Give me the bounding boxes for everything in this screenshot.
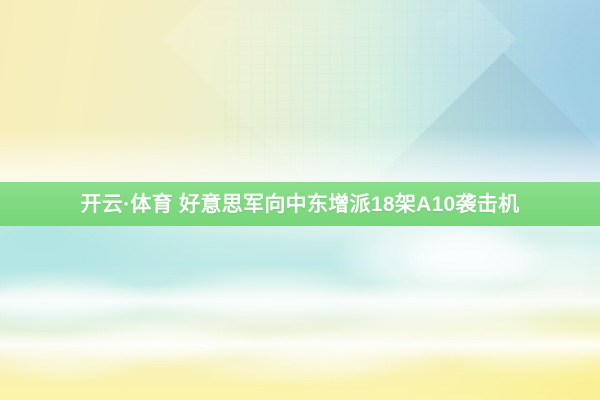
upper-scene [0,0,600,182]
banner-title-text: 开云·体育 好意思军向中东增派18架A10袭击机 [81,194,520,215]
sky-warm-wash [260,226,600,400]
lower-sky-scene [0,226,600,400]
banner-image: 开云·体育 好意思军向中东增派18架A10袭击机 [0,0,600,400]
title-banner: 开云·体育 好意思军向中东增派18架A10袭击机 [0,182,600,226]
upper-bottom-fade [0,130,600,182]
